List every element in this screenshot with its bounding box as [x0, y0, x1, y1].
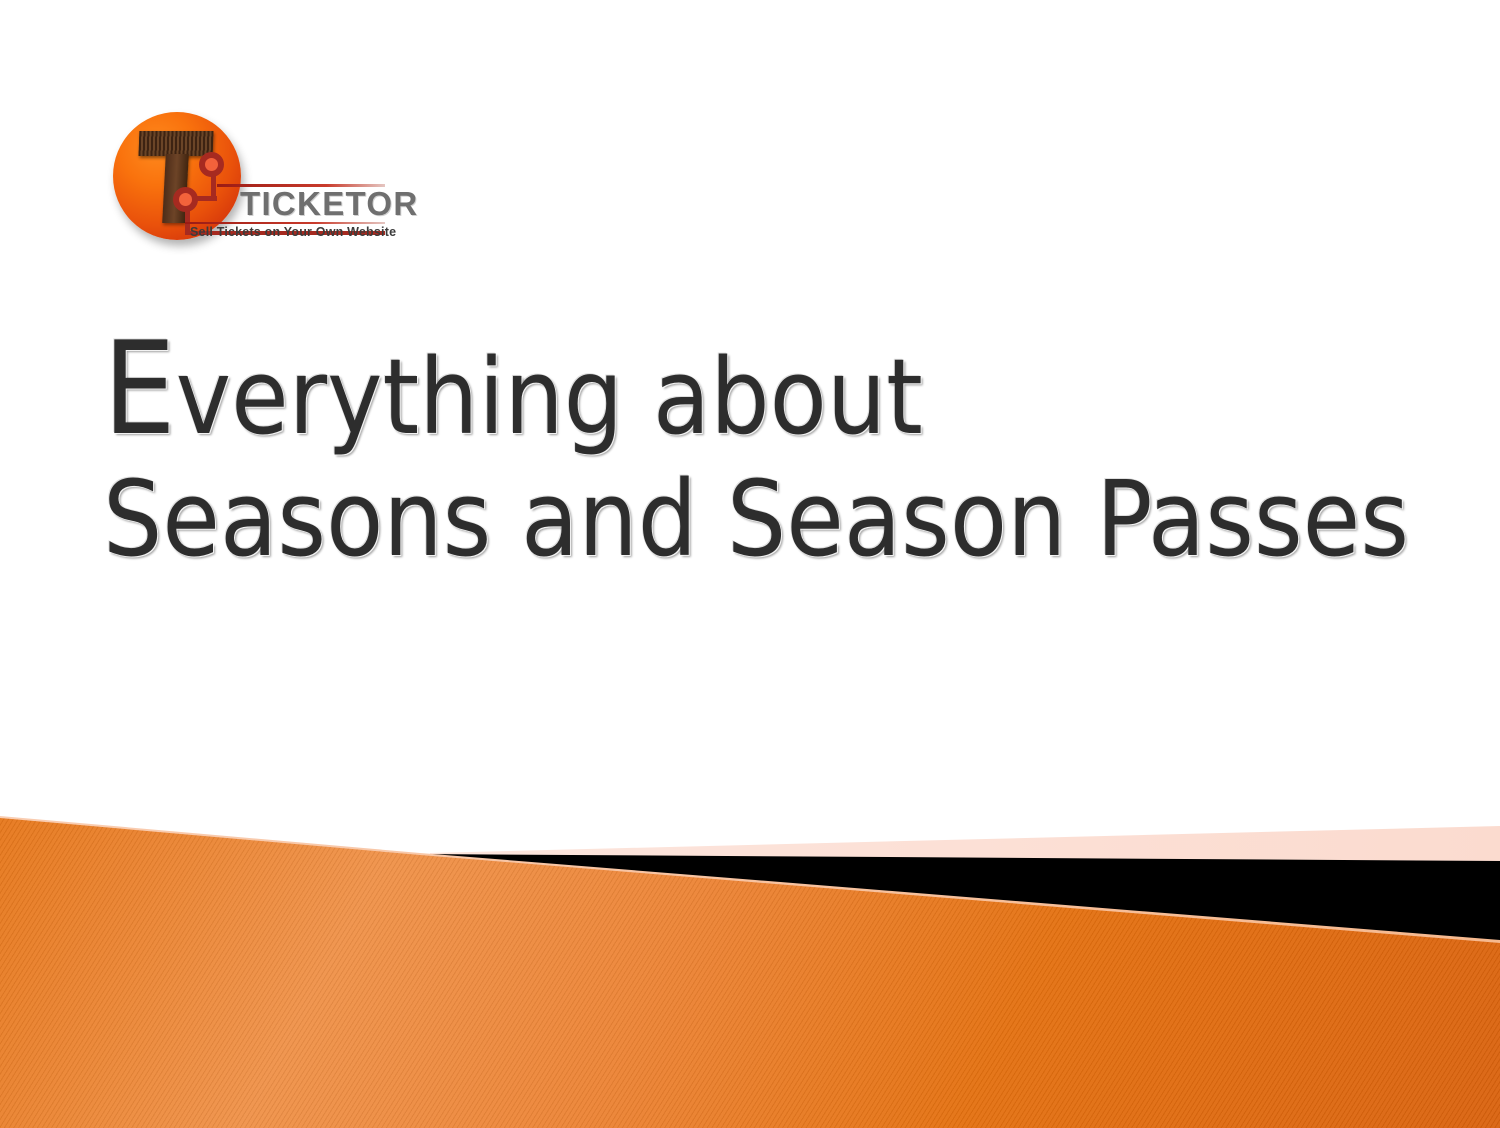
logo-tagline: Sell Tickets on Your Own Website — [190, 226, 396, 239]
title-line-1: Everything about — [103, 336, 1423, 458]
title-line-2: Seasons and Season Passes — [103, 458, 1423, 580]
title-drop-cap: E — [103, 315, 176, 464]
logo-circuit-wire-icon — [211, 174, 216, 200]
logo-bottom-rule — [185, 222, 385, 224]
logo-ticket-t-icon — [139, 131, 213, 223]
title-line-1-text: verything about — [176, 336, 923, 458]
ticketor-logo[interactable]: TICKETOR Sell Tickets on Your Own Websit… — [113, 108, 383, 253]
slide-title: Everything about Seasons and Season Pass… — [103, 336, 1423, 580]
logo-circuit-node-icon — [199, 152, 224, 177]
logo-circuit-node-icon — [173, 187, 198, 212]
slide: TICKETOR Sell Tickets on Your Own Websit… — [0, 0, 1500, 1128]
logo-wordmark: TICKETOR — [240, 187, 418, 220]
